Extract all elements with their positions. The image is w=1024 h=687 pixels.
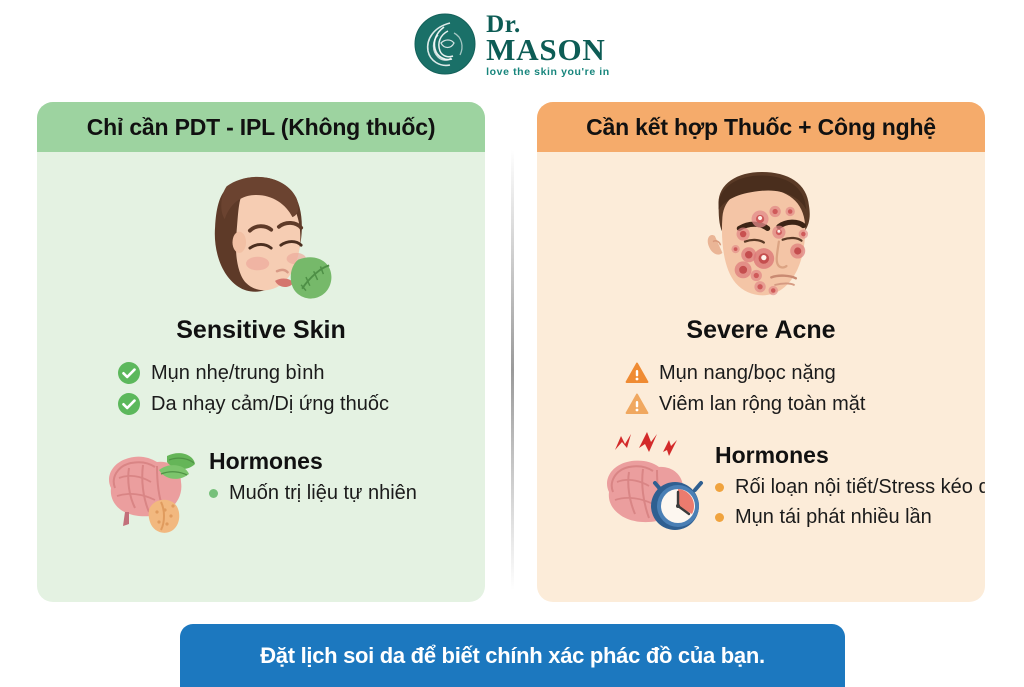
list-item: Muốn trị liệu tự nhiên bbox=[209, 482, 417, 505]
brain-clock-stress-illustration-icon bbox=[599, 430, 715, 532]
list-item-label: Mụn nhẹ/trung bình bbox=[151, 362, 324, 385]
bullet-dot-icon bbox=[209, 489, 218, 498]
panel-right-hormones-section: Hormones Rối loạn nội tiết/Stress kéo dà… bbox=[537, 438, 985, 532]
list-item: Mụn nang/bọc nặng bbox=[625, 361, 985, 385]
panel-left-sensitive-skin: Chỉ cần PDT - IPL (Không thuốc) Sen bbox=[37, 102, 485, 602]
panel-left-hormones-list: Muốn trị liệu tự nhiên bbox=[209, 482, 417, 505]
brand-name-line2: MASON bbox=[486, 34, 610, 65]
panel-left-bullet-list: Mụn nhẹ/trung bình Da nhạy cảm/Dị ứng th… bbox=[37, 361, 485, 416]
list-item: Mụn tái phát nhiều lần bbox=[715, 506, 985, 529]
bullet-dot-icon bbox=[715, 483, 724, 492]
list-item-label: Da nhạy cảm/Dị ứng thuốc bbox=[151, 393, 389, 416]
panel-left-header: Chỉ cần PDT - IPL (Không thuốc) bbox=[37, 102, 485, 152]
list-item: Rối loạn nội tiết/Stress kéo dài bbox=[715, 476, 985, 499]
check-circle-icon bbox=[117, 392, 141, 416]
brain-thyroid-leaf-illustration-icon bbox=[95, 444, 207, 540]
panel-divider bbox=[511, 150, 514, 590]
brand-logo: Dr. MASON love the skin you're in bbox=[0, 10, 1024, 78]
check-circle-icon bbox=[117, 361, 141, 385]
leaf-face-circle-logo-icon bbox=[414, 13, 476, 75]
list-item: Viêm lan rộng toàn mặt bbox=[625, 392, 985, 416]
list-item-label: Muốn trị liệu tự nhiên bbox=[229, 482, 417, 505]
list-item-label: Rối loạn nội tiết/Stress kéo dài bbox=[735, 476, 985, 499]
panel-right-hormones-title: Hormones bbox=[715, 442, 985, 469]
cta-label: Đặt lịch soi da để biết chính xác phác đ… bbox=[260, 643, 765, 669]
panel-right-hormones-list: Rối loạn nội tiết/Stress kéo dài Mụn tái… bbox=[715, 476, 985, 529]
list-item: Mụn nhẹ/trung bình bbox=[117, 361, 485, 385]
panel-left-hormones-section: Hormones Muốn trị liệu tự nhiên bbox=[37, 442, 485, 540]
brand-tagline: love the skin you're in bbox=[486, 67, 610, 78]
infographic-page: Dr. MASON love the skin you're in Chỉ cầ… bbox=[0, 0, 1024, 687]
woman-face-with-leaf-illustration-icon bbox=[37, 160, 485, 310]
panel-right-severe-acne: Cần kết hợp Thuốc + Công nghệ bbox=[537, 102, 985, 602]
warning-triangle-icon bbox=[625, 392, 649, 416]
panel-right-bullet-list: Mụn nang/bọc nặng Viêm lan rộng toàn mặt bbox=[537, 361, 985, 416]
panel-left-condition-title: Sensitive Skin bbox=[37, 316, 485, 345]
panel-left-hormones-title: Hormones bbox=[209, 448, 417, 475]
man-face-severe-acne-illustration-icon bbox=[537, 160, 985, 310]
panel-right-condition-title: Severe Acne bbox=[537, 316, 985, 345]
warning-triangle-icon bbox=[625, 361, 649, 385]
list-item: Da nhạy cảm/Dị ứng thuốc bbox=[117, 392, 485, 416]
bullet-dot-icon bbox=[715, 513, 724, 522]
cta-banner[interactable]: Đặt lịch soi da để biết chính xác phác đ… bbox=[180, 624, 845, 687]
list-item-label: Mụn nang/bọc nặng bbox=[659, 362, 836, 385]
list-item-label: Mụn tái phát nhiều lần bbox=[735, 506, 932, 529]
list-item-label: Viêm lan rộng toàn mặt bbox=[659, 393, 865, 416]
panel-right-header: Cần kết hợp Thuốc + Công nghệ bbox=[537, 102, 985, 152]
